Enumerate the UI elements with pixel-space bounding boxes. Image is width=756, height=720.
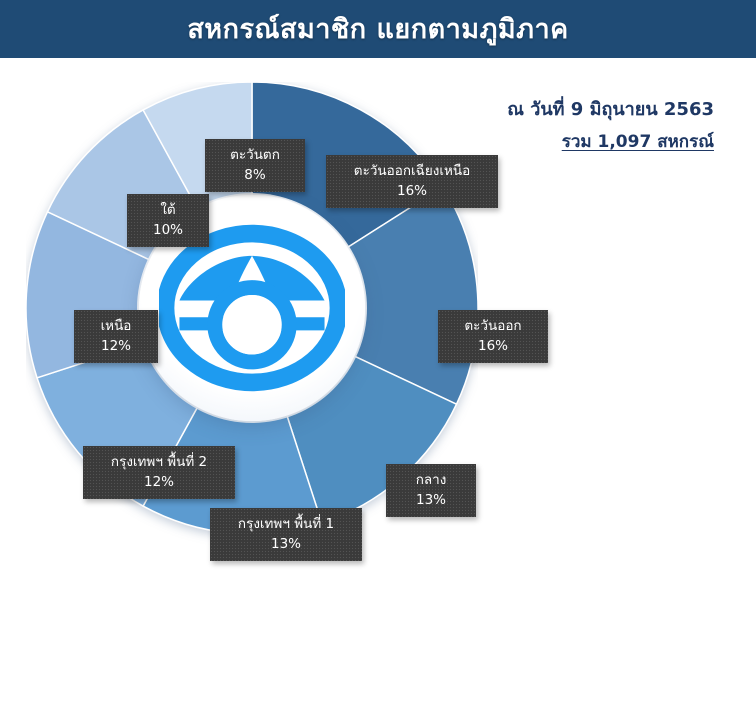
slice-label-value: 8% — [217, 166, 293, 184]
header-bar: สหกรณ์สมาชิก แยกตามภูมิภาค — [0, 0, 756, 58]
report-info-block: ณ วันที่ 9 มิถุนายน 2563 รวม 1,097 สหกรณ… — [507, 96, 714, 156]
report-date: ณ วันที่ 9 มิถุนายน 2563 — [507, 96, 714, 123]
page-title: สหกรณ์สมาชิก แยกตามภูมิภาค — [187, 16, 568, 43]
slice-label-name: กลาง — [398, 471, 464, 489]
slice-label: กลาง13% — [386, 464, 476, 517]
slice-label: ตะวันออก16% — [438, 310, 548, 363]
slice-label-name: เหนือ — [86, 317, 146, 335]
report-total: รวม 1,097 สหกรณ์ — [507, 129, 714, 156]
slice-label-name: กรุงเทพฯ พื้นที่ 2 — [95, 453, 223, 471]
slice-label: เหนือ12% — [74, 310, 158, 363]
slice-label-value: 12% — [95, 473, 223, 491]
slice-label-value: 12% — [86, 337, 146, 355]
slice-label: กรุงเทพฯ พื้นที่ 212% — [83, 446, 235, 499]
slice-label: ตะวันออกเฉียงเหนือ16% — [326, 155, 498, 208]
donut-chart: ตะวันออกเฉียงเหนือ16%ตะวันออก16%กลาง13%ก… — [26, 82, 478, 602]
slice-label-name: ตะวันตก — [217, 146, 293, 164]
slice-label-value: 13% — [398, 491, 464, 509]
slice-label-name: ตะวันออก — [450, 317, 536, 335]
slice-label-value: 10% — [139, 221, 197, 239]
slice-label-value: 16% — [338, 182, 486, 200]
slice-label: ใต้10% — [127, 194, 209, 247]
slice-label-name: กรุงเทพฯ พื้นที่ 1 — [222, 515, 350, 533]
slice-label: ตะวันตก8% — [205, 139, 305, 192]
slice-label-value: 13% — [222, 535, 350, 553]
slice-label: กรุงเทพฯ พื้นที่ 113% — [210, 508, 362, 561]
slice-label-name: ตะวันออกเฉียงเหนือ — [338, 162, 486, 180]
slice-label-value: 16% — [450, 337, 536, 355]
slice-label-name: ใต้ — [139, 201, 197, 219]
